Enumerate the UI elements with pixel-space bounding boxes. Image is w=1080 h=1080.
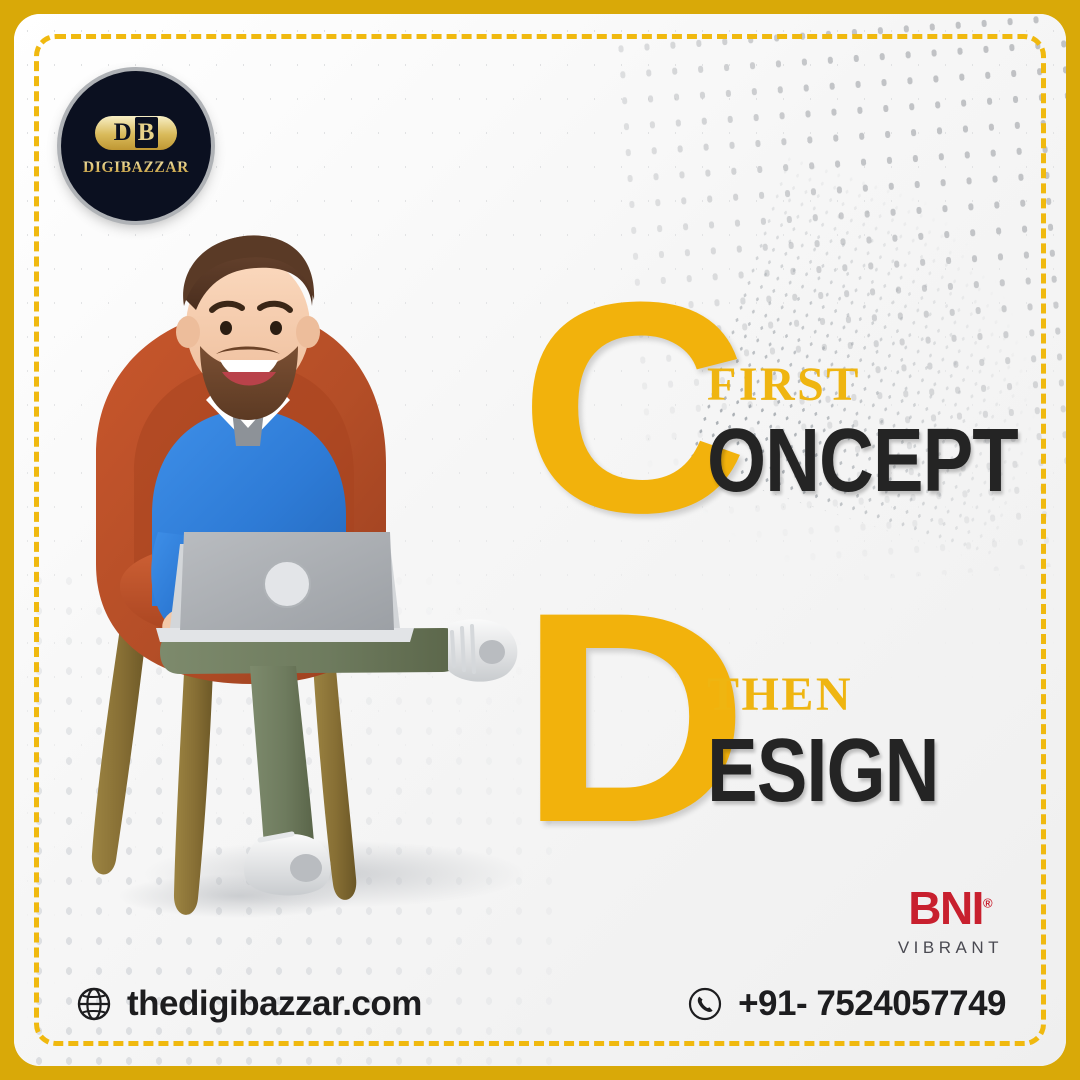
bni-wordmark: BNI® [908, 885, 992, 931]
website-url: thedigibazzar.com [127, 984, 422, 1024]
illustration-man-with-laptop [34, 214, 554, 974]
word-stack-design: THEN ESIGN [707, 671, 939, 801]
headline-line-design: D THEN ESIGN [519, 609, 1059, 864]
headline-block: C FIRST ONCEPT D THEN ESIGN [519, 299, 1059, 864]
registered-trademark-symbol: ® [983, 896, 993, 911]
website-contact[interactable]: thedigibazzar.com [76, 984, 422, 1024]
globe-icon [76, 986, 112, 1022]
mainword-oncept: ONCEPT [707, 419, 1018, 504]
digibazzar-logo[interactable]: D B DIGIBAZZAR [61, 71, 211, 221]
bni-chapter-name: VIBRANT [898, 938, 1003, 958]
kicker-then: THEN [707, 671, 939, 719]
word-stack-concept: FIRST ONCEPT [707, 361, 1018, 491]
bni-letters: BNI [908, 882, 983, 934]
mainword-esign: ESIGN [707, 729, 939, 814]
db-monogram: D B [95, 116, 177, 150]
logo-wordmark: DIGIBAZZAR [83, 159, 189, 177]
phone-contact[interactable]: +91- 7524057749 [687, 984, 1006, 1024]
footer-contact-bar: thedigibazzar.com +91- 7524057749 [14, 984, 1066, 1024]
poster-card: D B DIGIBAZZAR [14, 14, 1066, 1066]
poster-canvas: D B DIGIBAZZAR [0, 0, 1080, 1080]
phone-number: +91- 7524057749 [738, 984, 1006, 1024]
headline-line-concept: C FIRST ONCEPT [519, 299, 1059, 554]
monogram-d: D [114, 120, 132, 145]
kicker-first: FIRST [707, 361, 1018, 409]
monogram-b: B [135, 117, 159, 148]
phone-icon [687, 986, 723, 1022]
bni-partner-badge: BNI® VIBRANT [898, 885, 1003, 958]
